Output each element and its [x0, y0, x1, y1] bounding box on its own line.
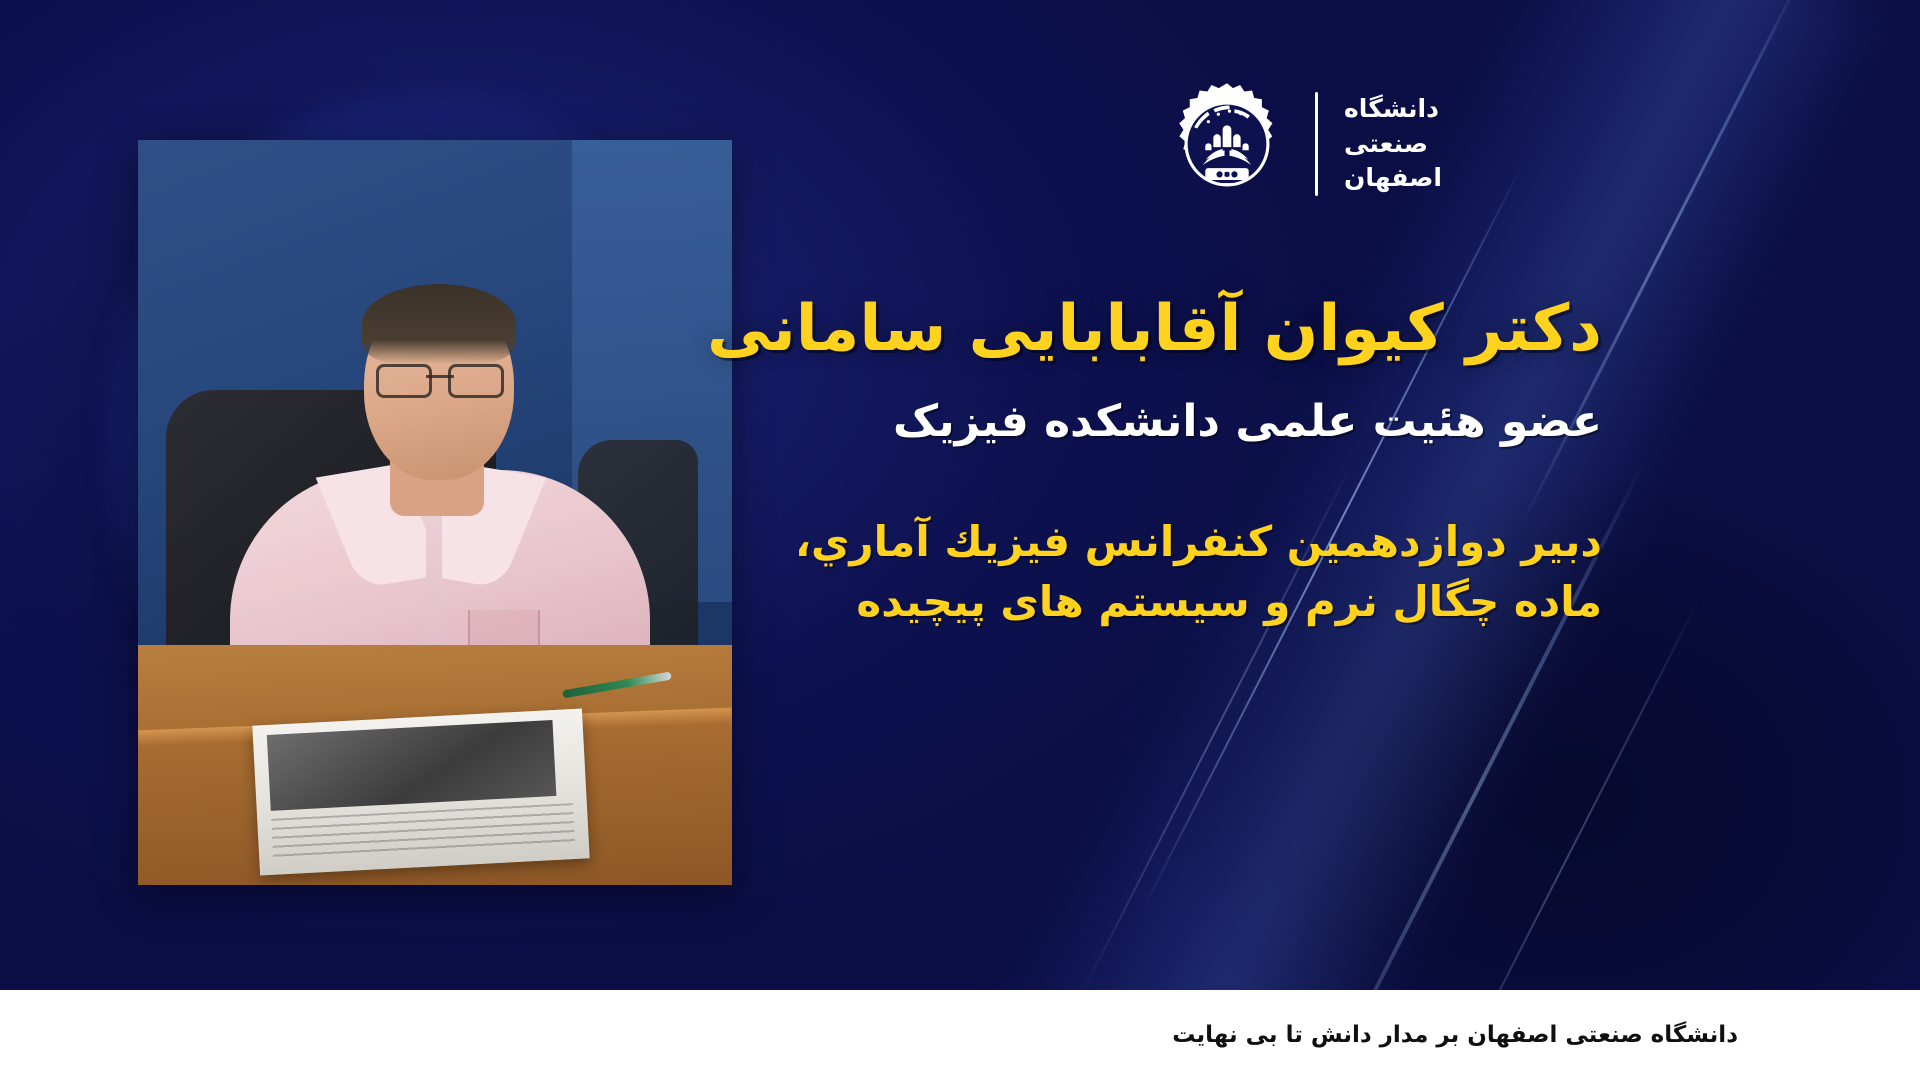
- poster-canvas: دانشگاه صنعتی اصفهان: [0, 0, 1920, 1080]
- logo-word-line-1: دانشگاه: [1344, 93, 1439, 126]
- photo-glasses: [376, 364, 504, 394]
- photo-hair: [362, 284, 516, 364]
- footer-slogan: دانشگاه صنعتی اصفهان بر مدار دانش تا بی …: [1172, 1022, 1738, 1048]
- logo-divider: [1315, 92, 1318, 196]
- speaker-text-block: دکتر کیوان آقابابایی سامانی عضو هئیت علم…: [582, 290, 1602, 632]
- photo-newspaper-stack: [252, 708, 589, 875]
- logo-word-line-2: صنعتی: [1344, 128, 1428, 161]
- poster-stage: دانشگاه صنعتی اصفهان: [0, 0, 1920, 990]
- conference-role-block: دبیر دوازدهمین کنفرانس فیزیك آماري، ماده…: [582, 512, 1602, 631]
- conference-line-2: ماده چگال نرم و سیستم های پیچیده: [582, 572, 1602, 632]
- university-logo-wordmark: دانشگاه صنعتی اصفهان: [1344, 93, 1442, 195]
- speaker-role: عضو هئیت علمی دانشکده فیزیک: [582, 394, 1602, 450]
- logo-word-line-3: اصفهان: [1344, 162, 1442, 195]
- light-streak-4: [1419, 593, 1702, 990]
- university-gear-emblem-icon: [1165, 82, 1289, 206]
- university-logo-lockup: دانشگاه صنعتی اصفهان: [1165, 82, 1442, 206]
- photo-newspaper-text-lines: [271, 803, 575, 863]
- conference-line-1: دبیر دوازدهمین کنفرانس فیزیك آماري،: [582, 512, 1602, 572]
- speaker-name: دکتر کیوان آقابابایی سامانی: [582, 290, 1602, 368]
- footer-bar: دانشگاه صنعتی اصفهان بر مدار دانش تا بی …: [0, 990, 1920, 1080]
